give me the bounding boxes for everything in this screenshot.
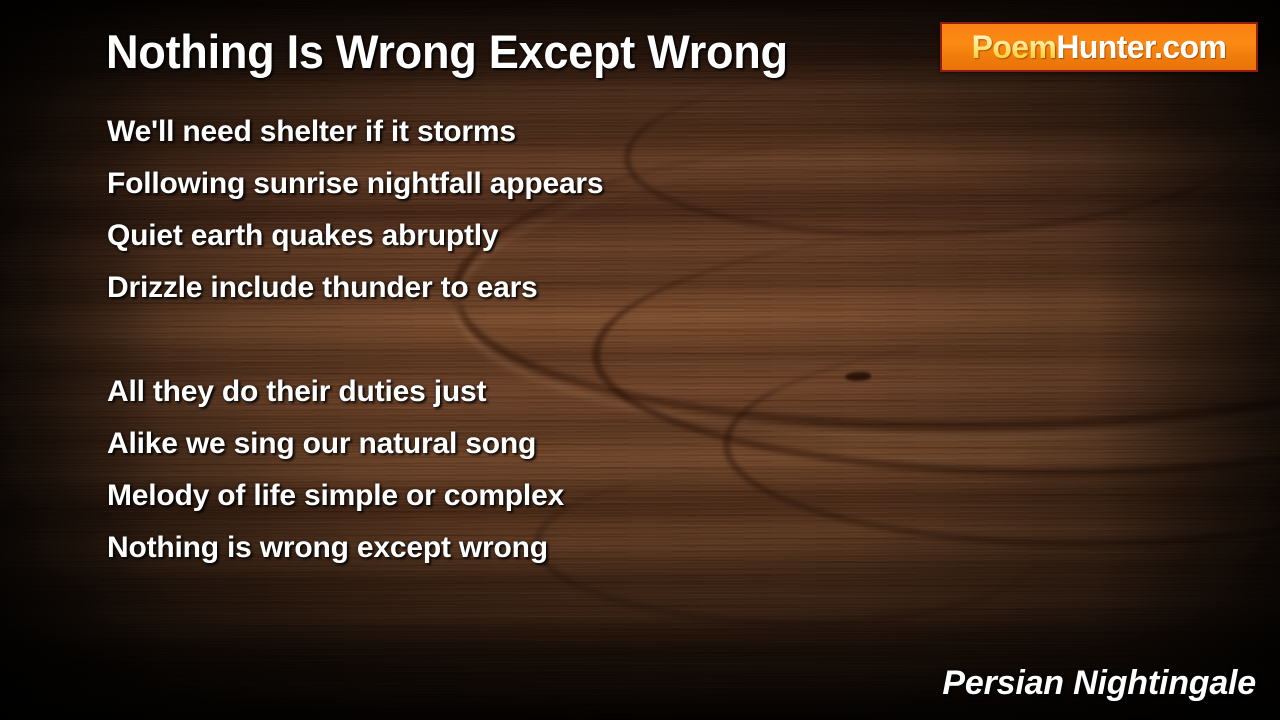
poem-line: Quiet earth quakes abruptly [107, 210, 867, 262]
logo-wordmark: PoemHunter.com [972, 31, 1227, 63]
poem-card: Nothing Is Wrong Except Wrong PoemHunter… [0, 0, 1280, 720]
logo-word-poem: Poem [972, 29, 1057, 65]
poemhunter-logo[interactable]: PoemHunter.com [940, 22, 1258, 72]
poem-line: Alike we sing our natural song [107, 418, 867, 470]
poem-line: Following sunrise nightfall appears [107, 158, 867, 210]
poem-line: All they do their duties just [107, 366, 867, 418]
poem-stanza-break [107, 314, 867, 366]
poem-line: We'll need shelter if it storms [107, 106, 867, 158]
logo-word-hunter-com: Hunter.com [1056, 29, 1226, 65]
poem-line: Melody of life simple or complex [107, 470, 867, 522]
poem-author: Persian Nightingale [942, 664, 1256, 703]
poem-line: Nothing is wrong except wrong [107, 522, 867, 574]
poem-line: Drizzle include thunder to ears [107, 262, 867, 314]
poem-body: We'll need shelter if it stormsFollowing… [107, 106, 867, 574]
poem-title: Nothing Is Wrong Except Wrong [106, 24, 788, 79]
card-content: Nothing Is Wrong Except Wrong PoemHunter… [0, 0, 1280, 720]
